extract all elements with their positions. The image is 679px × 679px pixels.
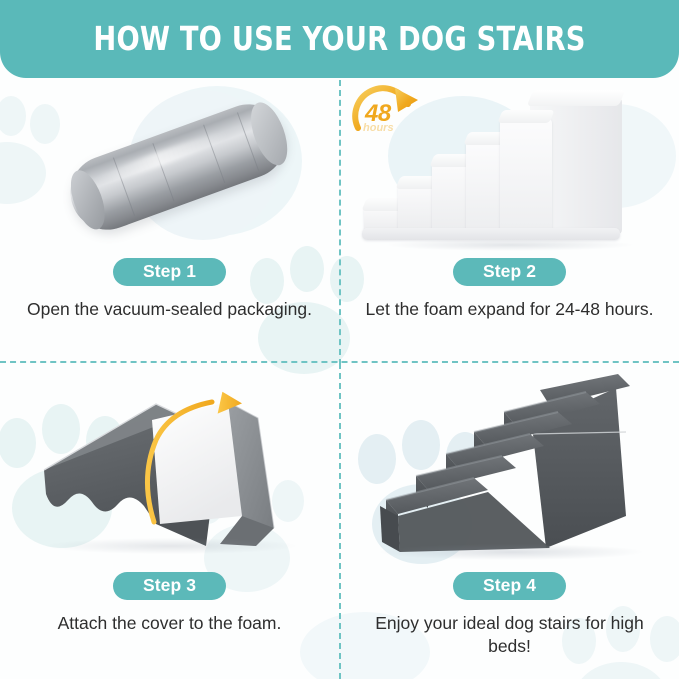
step-3-illustration — [0, 364, 339, 569]
step-1-badge: Step 1 — [113, 258, 226, 286]
roll-end-right — [244, 98, 295, 170]
step-4-caption: Enjoy your ideal dog stairs for high bed… — [340, 612, 679, 658]
roll-seam — [113, 157, 135, 216]
roll-seam — [203, 124, 225, 183]
cover-attach-image — [6, 374, 336, 564]
infographic-page: HOW TO USE YOUR DOG STAIRS Step 1 Open t… — [0, 0, 679, 679]
48-hours-clock-arrow-icon: 48 hours — [348, 80, 434, 144]
foam-step-tread — [497, 110, 554, 123]
stairs-shadow — [380, 544, 642, 560]
foam-step — [500, 118, 552, 236]
step-3-caption-block: Step 3 Attach the cover to the foam. — [0, 572, 339, 635]
white-foam-panel — [152, 402, 242, 524]
step-4-illustration — [340, 364, 679, 569]
step-3-caption: Attach the cover to the foam. — [0, 612, 339, 635]
gray-dog-stairs-drawing — [354, 366, 666, 566]
cover-shadow — [46, 538, 296, 554]
roll-seam — [152, 143, 174, 202]
header-banner: HOW TO USE YOUR DOG STAIRS — [0, 0, 679, 78]
step-1-caption: Open the vacuum-sealed packaging. — [0, 298, 339, 321]
step-1-illustration — [0, 82, 339, 254]
step-panel-2: 48 hours — [340, 82, 679, 360]
cover-and-foam-drawing — [6, 374, 336, 564]
step-4-badge: Step 4 — [453, 572, 566, 600]
step-2-caption-block: Step 2 Let the foam expand for 24-48 hou… — [340, 258, 679, 321]
step-4-caption-block: Step 4 Enjoy your ideal dog stairs for h… — [340, 572, 679, 658]
step-1-caption-block: Step 1 Open the vacuum-sealed packaging. — [0, 258, 339, 321]
step-2-caption: Let the foam expand for 24-48 hours. — [340, 298, 679, 321]
page-title: HOW TO USE YOUR DOG STAIRS — [93, 19, 585, 58]
vacuum-sealed-roll-image — [52, 96, 302, 241]
foam-base-lip — [362, 228, 620, 240]
step-2-illustration: 48 hours — [340, 82, 679, 254]
foam-shadow — [384, 239, 636, 251]
foam-top-face — [527, 90, 625, 106]
finished-dog-stairs-image — [354, 366, 666, 566]
step-panel-4: Step 4 Enjoy your ideal dog stairs for h… — [340, 364, 679, 679]
step-2-badge: Step 2 — [453, 258, 566, 286]
step-panel-3: Step 3 Attach the cover to the foam. — [0, 364, 339, 679]
step-3-badge: Step 3 — [113, 572, 226, 600]
48-hours-unit: hours — [363, 122, 394, 134]
step-panel-1: Step 1 Open the vacuum-sealed packaging. — [0, 82, 339, 360]
roll-end-left — [64, 166, 112, 234]
circular-arrow-icon — [348, 80, 434, 144]
